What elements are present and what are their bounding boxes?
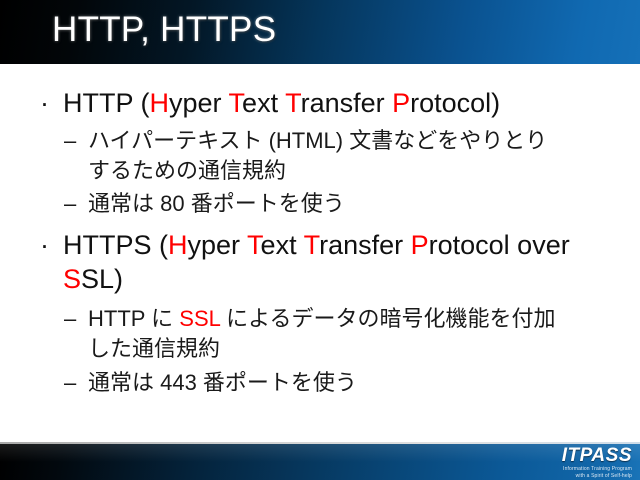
seg-https-2: yper [188, 230, 248, 260]
bullet-level2: – 通常は 443 番ポートを使う [0, 368, 640, 398]
seg-https-s: S [63, 264, 81, 294]
bullet-dot-icon: · [40, 86, 49, 120]
itpass-logo: ITPASS Information Training Program with… [562, 446, 632, 479]
seg-http-2: yper [169, 88, 229, 118]
bullet-level1: · HTTPS (Hyper Text Transfer Protocol ov… [0, 228, 600, 296]
logo-tagline-line1: Information Training Program [562, 466, 632, 472]
bullet-http-text: HTTP (Hyper Text Transfer Protocol) [63, 88, 500, 118]
subbullet-port443: – 通常は 443 番ポートを使う [0, 368, 640, 398]
dash-icon: – [64, 189, 76, 219]
subbullet-ssl-text: HTTP に SSL によるデータの暗号化機能を付加した通信規約 [88, 306, 556, 361]
dash-icon: – [64, 126, 76, 156]
seg-ssl-1: HTTP に [88, 306, 179, 331]
bullet-https: · HTTPS (Hyper Text Transfer Protocol ov… [0, 228, 600, 296]
seg-http-t2: T [285, 88, 301, 118]
logo-name: ITPASS [562, 446, 632, 465]
subbullet-port80: – 通常は 80 番ポートを使う [0, 189, 640, 219]
subbullet-hypertext: – ハイパーテキスト (HTML) 文書などをやりとりするための通信規約 [0, 126, 560, 186]
seg-http-t1: T [229, 88, 243, 118]
subbullet-hypertext-text: ハイパーテキスト (HTML) 文書などをやりとりするための通信規約 [88, 128, 547, 183]
seg-https-3: ext [261, 230, 304, 260]
seg-https-1: HTTPS ( [63, 230, 168, 260]
bullet-level1: · HTTP (Hyper Text Transfer Protocol) [0, 86, 640, 120]
seg-http-3: ext [242, 88, 285, 118]
seg-https-h: H [168, 230, 188, 260]
seg-http-h: H [150, 88, 170, 118]
subbullet-port443-text: 通常は 443 番ポートを使う [88, 370, 357, 395]
dash-icon: – [64, 304, 76, 334]
seg-http-4: ransfer [301, 88, 393, 118]
seg-ssl-keyword: SSL [179, 306, 220, 331]
seg-http-1: HTTP ( [63, 88, 150, 118]
subbullet-port80-text: 通常は 80 番ポートを使う [88, 191, 345, 216]
bullet-dot-icon: · [40, 228, 49, 262]
seg-http-p: P [392, 88, 410, 118]
slide-title-bar: HTTP, HTTPS [0, 0, 640, 64]
footer-band [0, 444, 640, 480]
bullet-http: · HTTP (Hyper Text Transfer Protocol) [0, 86, 640, 120]
page-title: HTTP, HTTPS [52, 10, 276, 50]
slide-content: · HTTP (Hyper Text Transfer Protocol) – … [0, 64, 640, 440]
seg-https-4: ransfer [319, 230, 411, 260]
subbullet-ssl: – HTTP に SSL によるデータの暗号化機能を付加した通信規約 [0, 304, 575, 364]
bullet-level2: – 通常は 80 番ポートを使う [0, 189, 640, 219]
seg-https-p: P [411, 230, 429, 260]
logo-tagline-line2: with a Spirit of Self-help [562, 473, 632, 479]
seg-https-t2: T [304, 230, 320, 260]
seg-http-5: rotocol) [410, 88, 500, 118]
bullet-level2: – ハイパーテキスト (HTML) 文書などをやりとりするための通信規約 [0, 126, 560, 186]
dash-icon: – [64, 368, 76, 398]
seg-https-t1: T [247, 230, 261, 260]
bullet-https-text: HTTPS (Hyper Text Transfer Protocol over… [63, 230, 570, 294]
seg-https-6: SL) [81, 264, 123, 294]
bullet-level2: – HTTP に SSL によるデータの暗号化機能を付加した通信規約 [0, 304, 575, 364]
seg-https-5: rotocol over [429, 230, 570, 260]
